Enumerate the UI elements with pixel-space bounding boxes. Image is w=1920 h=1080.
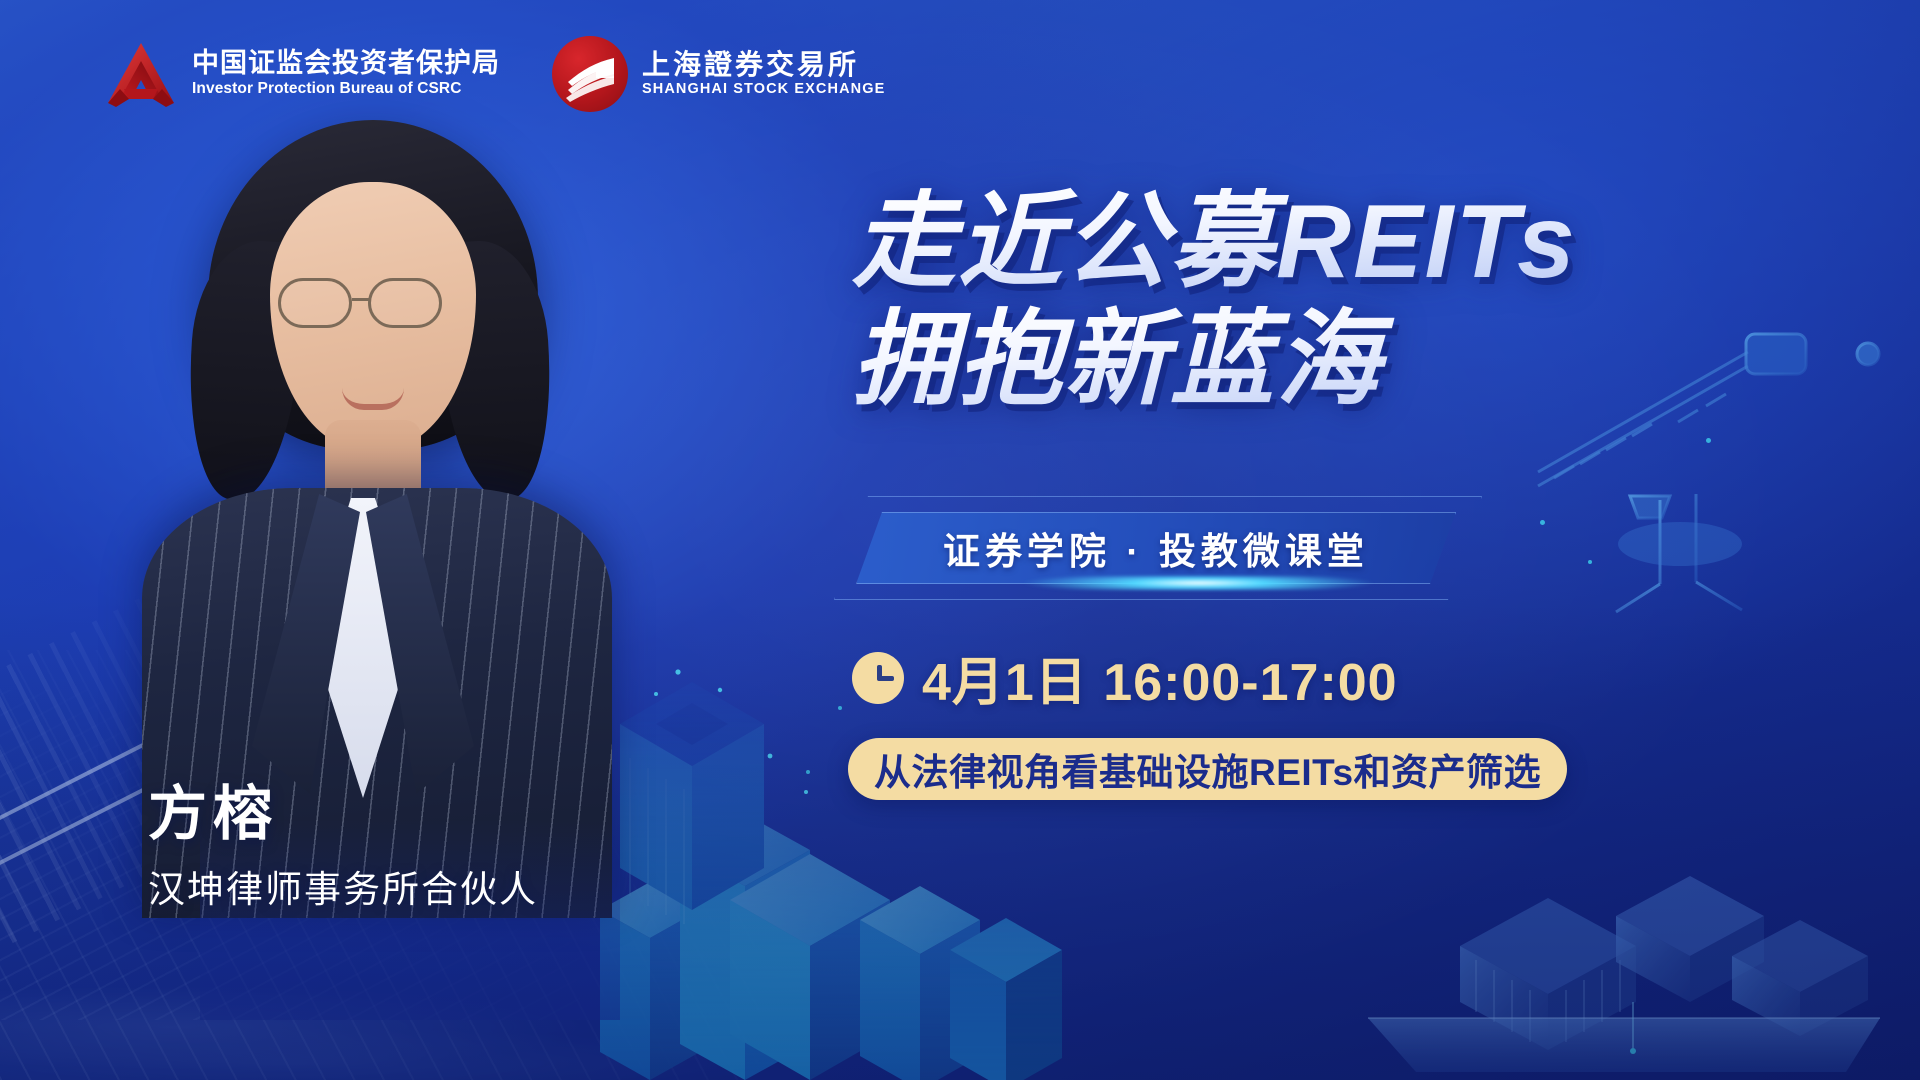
antenna-line — [1632, 1002, 1634, 1048]
isometric-city-buildings — [560, 660, 1260, 1080]
portrait-glasses-left — [278, 278, 352, 328]
light-particle — [1706, 438, 1711, 443]
speaker-name: 方榕 — [148, 782, 538, 847]
schedule-row: 4月1日 16:00-17:00 — [852, 640, 1398, 715]
topic-pill: 从法律视角看基础设施REITs和资产筛选 — [848, 738, 1567, 800]
logo-csrc-cn: 中国证监会投资者保护局 — [192, 49, 500, 79]
light-particle — [1630, 1048, 1636, 1054]
clock-minute-hand — [877, 676, 894, 681]
topic-text: 从法律视角看基础设施REITs和资产筛选 — [874, 742, 1541, 796]
logo-sse-cn: 上海證券交易所 — [642, 50, 885, 81]
poster-root: 中国证监会投资者保护局 Investor Protection Bureau o… — [0, 0, 1920, 1080]
sse-oval-mark-icon — [552, 36, 628, 112]
header-logos: 中国证监会投资者保护局 Investor Protection Bureau o… — [104, 36, 885, 112]
speaker-info: 方榕 汉坤律师事务所合伙人 — [148, 782, 538, 913]
headline-line-1: 走近公募REITs — [852, 186, 1862, 298]
light-particle — [838, 706, 842, 710]
logo-sse: 上海證券交易所 SHANGHAI STOCK EXCHANGE — [552, 36, 885, 112]
schedule-text: 4月1日 16:00-17:00 — [922, 640, 1398, 715]
light-particle — [806, 770, 810, 774]
portrait-glasses-right — [368, 278, 442, 328]
series-banner-glow — [926, 576, 1396, 590]
logo-csrc-en: Investor Protection Bureau of CSRC — [192, 79, 500, 98]
series-banner-label: 证券学院 · 投教微课堂 — [856, 512, 1456, 584]
light-particle — [1540, 520, 1545, 525]
logo-sse-text: 上海證券交易所 SHANGHAI STOCK EXCHANGE — [642, 50, 885, 99]
logo-csrc: 中国证监会投资者保护局 Investor Protection Bureau o… — [104, 39, 500, 109]
series-banner: 证券学院 · 投教微课堂 — [856, 512, 1456, 584]
light-particle — [1588, 560, 1592, 564]
clock-icon — [852, 652, 904, 704]
speaker-title: 汉坤律师事务所合伙人 — [148, 859, 538, 913]
logo-csrc-text: 中国证监会投资者保护局 Investor Protection Bureau o… — [192, 49, 500, 98]
logo-sse-en: SHANGHAI STOCK EXCHANGE — [642, 80, 885, 98]
csrc-triangle-mark-icon — [104, 39, 178, 109]
headline: 走近公募REITs 拥抱新蓝海 — [852, 186, 1862, 417]
portrait-glasses-bridge — [352, 298, 370, 301]
headline-line-2: 拥抱新蓝海 — [852, 304, 1862, 416]
